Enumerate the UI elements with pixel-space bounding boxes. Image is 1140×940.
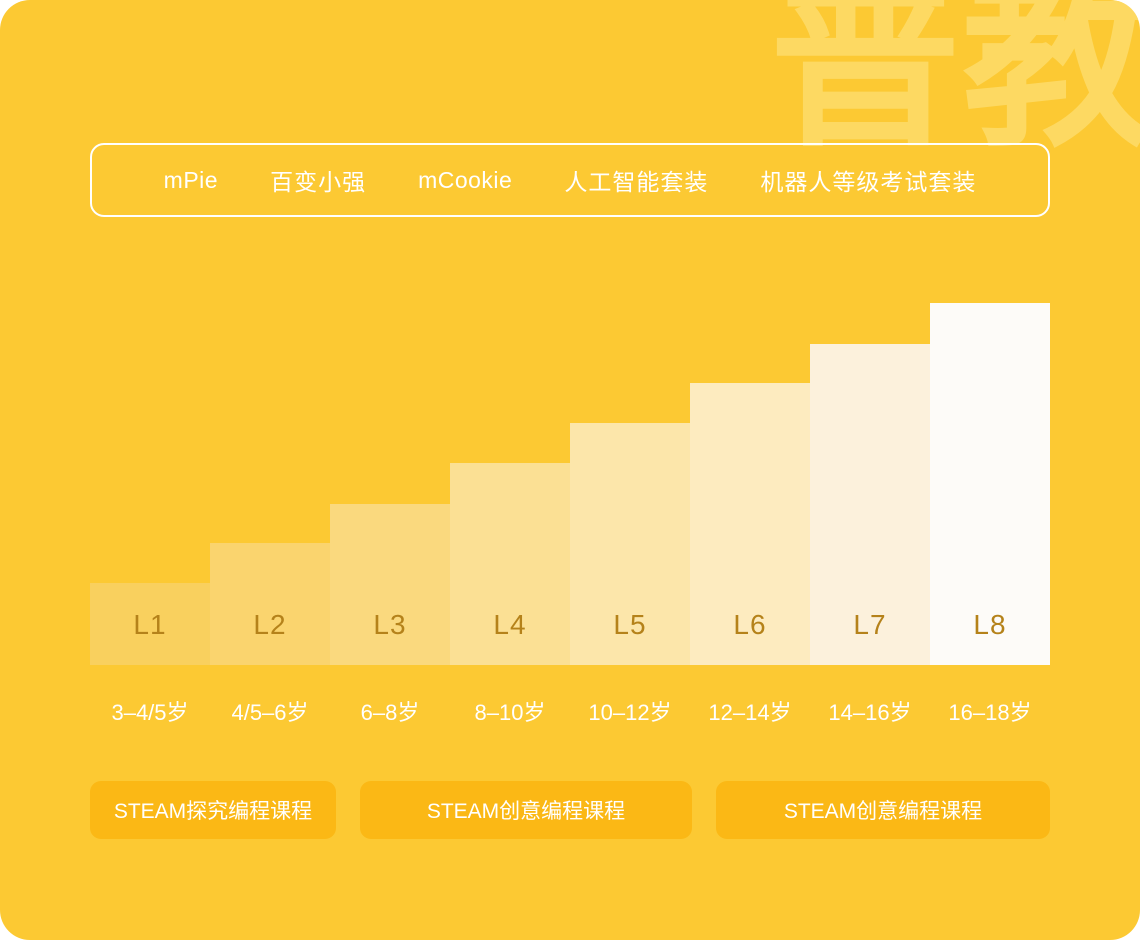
bar-label-l3: L3 [373, 609, 406, 641]
age-label-l1: 3–4/5岁 [90, 695, 210, 727]
course-track-list: STEAM探究编程课程 STEAM创意编程课程 STEAM创意编程课程 [90, 781, 1050, 839]
bar-l5: L5 [570, 423, 690, 665]
course-button-creative-1[interactable]: STEAM创意编程课程 [360, 781, 692, 839]
age-range-axis: 3–4/5岁 4/5–6岁 6–8岁 8–10岁 10–12岁 12–14岁 1… [90, 695, 1050, 727]
bar-label-l2: L2 [253, 609, 286, 641]
age-label-l5: 10–12岁 [570, 695, 690, 727]
bar-l1: L1 [90, 583, 210, 665]
bar-label-l5: L5 [613, 609, 646, 641]
age-label-l3: 6–8岁 [330, 695, 450, 727]
product-series-nav: mPie 百变小强 mCookie 人工智能套装 机器人等级考试套装 [90, 143, 1050, 217]
nav-item-ai-kit[interactable]: 人工智能套装 [558, 159, 714, 201]
age-label-l4: 8–10岁 [450, 695, 570, 727]
watermark-text: 普教 [770, 0, 1140, 158]
bar-l6: L6 [690, 383, 810, 665]
bar-l8: L8 [930, 303, 1050, 665]
course-button-creative-2[interactable]: STEAM创意编程课程 [716, 781, 1050, 839]
nav-item-baibianxiaoqiang[interactable]: 百变小强 [264, 159, 372, 201]
level-bar-chart: L1 L2 L3 L4 L5 L6 L7 L8 [90, 270, 1050, 665]
age-label-l8: 16–18岁 [930, 695, 1050, 727]
age-label-l6: 12–14岁 [690, 695, 810, 727]
bar-l7: L7 [810, 344, 930, 665]
bar-label-l6: L6 [733, 609, 766, 641]
nav-item-mcookie[interactable]: mCookie [412, 163, 518, 198]
age-label-l7: 14–16岁 [810, 695, 930, 727]
bar-l2: L2 [210, 543, 330, 665]
bar-label-l7: L7 [853, 609, 886, 641]
bar-label-l8: L8 [973, 609, 1006, 641]
product-level-card: 普教 mPie 百变小强 mCookie 人工智能套装 机器人等级考试套装 L1… [0, 0, 1140, 940]
bar-label-l1: L1 [133, 609, 166, 641]
age-label-l2: 4/5–6岁 [210, 695, 330, 727]
bar-label-l4: L4 [493, 609, 526, 641]
bar-l3: L3 [330, 504, 450, 665]
nav-item-robot-exam-kit[interactable]: 机器人等级考试套装 [754, 159, 982, 201]
course-button-explore[interactable]: STEAM探究编程课程 [90, 781, 336, 839]
bar-l4: L4 [450, 463, 570, 665]
nav-item-mpie[interactable]: mPie [158, 163, 224, 198]
